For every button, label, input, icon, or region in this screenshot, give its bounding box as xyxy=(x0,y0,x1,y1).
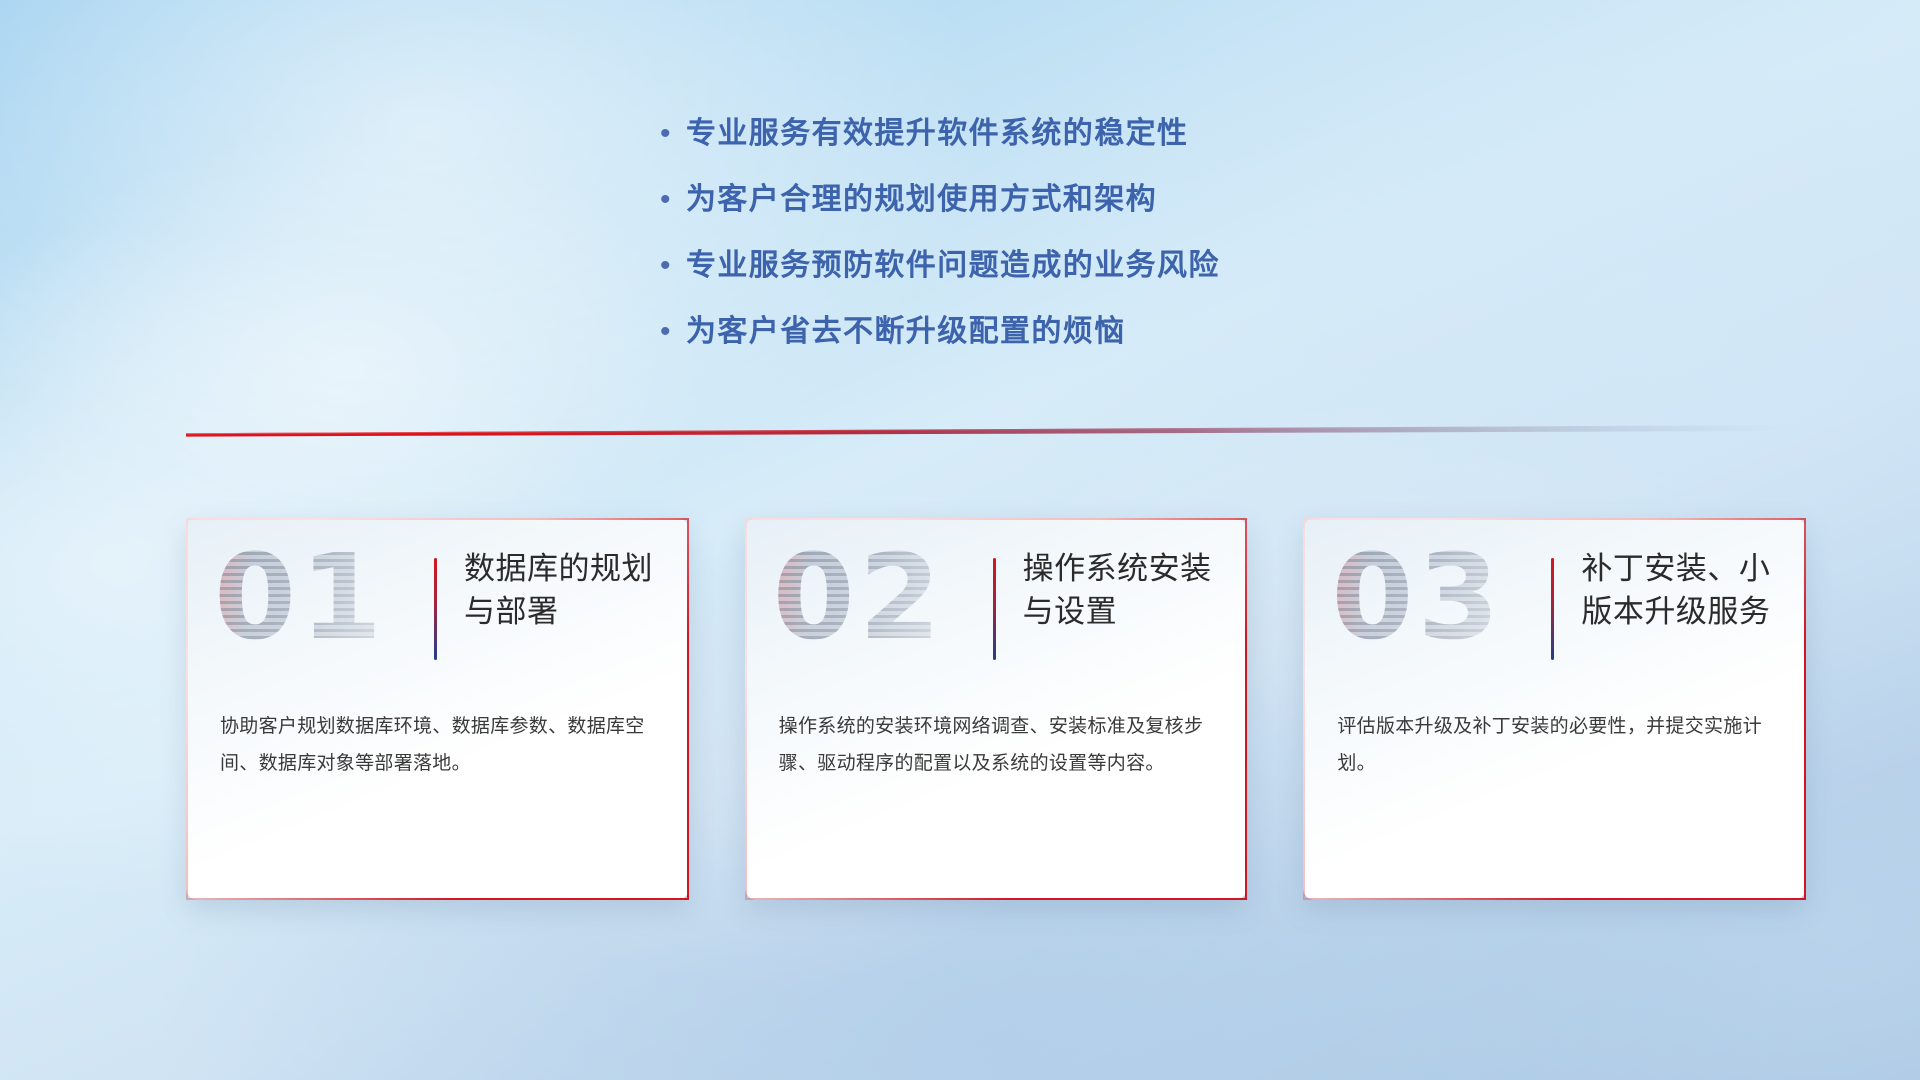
card-title: 操作系统安装与设置 xyxy=(1023,548,1235,634)
bullet-item: • 为客户合理的规划使用方式和架构 xyxy=(660,174,1480,240)
feature-card[interactable]: 01 数据库的规划与部署 协助客户规划数据库环境、数据库参数、数据库空间、数据库… xyxy=(186,518,689,900)
card-number-watermark: 02 xyxy=(773,538,945,656)
feature-card-header: 03 补丁安装、小版本升级服务 xyxy=(1305,520,1804,672)
bullet-item: • 为客户省去不断升级配置的烦恼 xyxy=(660,306,1480,372)
slide-canvas: • 专业服务有效提升软件系统的稳定性 • 为客户合理的规划使用方式和架构 • 专… xyxy=(0,0,1920,1080)
feature-card-row: 01 数据库的规划与部署 协助客户规划数据库环境、数据库参数、数据库空间、数据库… xyxy=(186,518,1806,910)
bullet-dot-icon: • xyxy=(660,185,686,215)
bullet-text: 专业服务预防软件问题造成的业务风险 xyxy=(686,240,1220,284)
feature-card-inner: 02 操作系统安装与设置 操作系统的安装环境网络调查、安装标准及复核步骤、驱动程… xyxy=(747,520,1246,898)
bullet-text: 为客户合理的规划使用方式和架构 xyxy=(686,174,1157,218)
card-number-watermark: 01 xyxy=(214,538,386,656)
card-body-text: 评估版本升级及补丁安装的必要性，并提交实施计划。 xyxy=(1337,708,1776,782)
feature-card-header: 02 操作系统安装与设置 xyxy=(747,520,1246,672)
bullet-dot-icon: • xyxy=(660,119,686,149)
card-vertical-rule xyxy=(1551,558,1554,660)
card-body-text: 操作系统的安装环境网络调查、安装标准及复核步骤、驱动程序的配置以及系统的设置等内… xyxy=(779,708,1218,782)
feature-card-inner: 03 补丁安装、小版本升级服务 评估版本升级及补丁安装的必要性，并提交实施计划。 xyxy=(1305,520,1804,898)
red-taper-divider xyxy=(186,424,1786,438)
bullet-item: • 专业服务预防软件问题造成的业务风险 xyxy=(660,240,1480,306)
bullet-dot-icon: • xyxy=(660,251,686,281)
bullet-text: 专业服务有效提升软件系统的稳定性 xyxy=(686,108,1188,152)
card-vertical-rule xyxy=(434,558,437,660)
feature-card-header: 01 数据库的规划与部署 xyxy=(188,520,687,672)
feature-card-inner: 01 数据库的规划与部署 协助客户规划数据库环境、数据库参数、数据库空间、数据库… xyxy=(188,520,687,898)
bullet-item: • 专业服务有效提升软件系统的稳定性 xyxy=(660,108,1480,174)
card-body-text: 协助客户规划数据库环境、数据库参数、数据库空间、数据库对象等部署落地。 xyxy=(220,708,659,782)
bullet-dot-icon: • xyxy=(660,317,686,347)
card-title: 补丁安装、小版本升级服务 xyxy=(1581,548,1793,634)
bullet-text: 为客户省去不断升级配置的烦恼 xyxy=(686,306,1126,350)
card-vertical-rule xyxy=(993,558,996,660)
bullet-list: • 专业服务有效提升软件系统的稳定性 • 为客户合理的规划使用方式和架构 • 专… xyxy=(660,108,1480,372)
feature-card[interactable]: 03 补丁安装、小版本升级服务 评估版本升级及补丁安装的必要性，并提交实施计划。 xyxy=(1303,518,1806,900)
card-number-watermark: 03 xyxy=(1331,538,1503,656)
feature-card[interactable]: 02 操作系统安装与设置 操作系统的安装环境网络调查、安装标准及复核步骤、驱动程… xyxy=(745,518,1248,900)
card-title: 数据库的规划与部署 xyxy=(464,548,676,634)
